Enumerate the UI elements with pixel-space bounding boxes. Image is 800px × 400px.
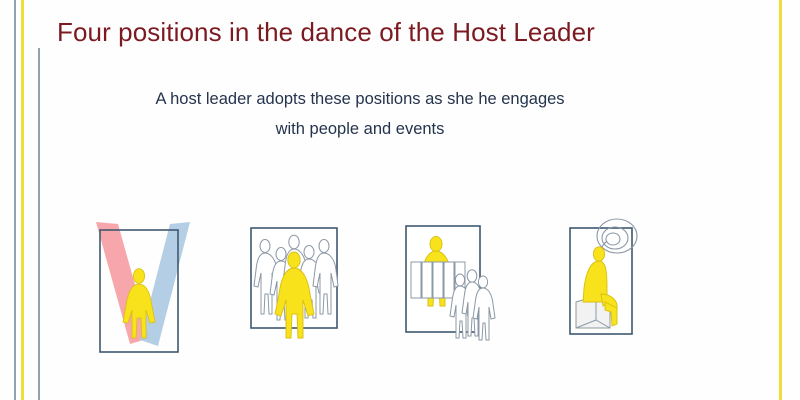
subtitle-line-1: A host leader adopts these positions as … [60, 84, 660, 114]
panel-behind-the-scenes[interactable] [398, 210, 502, 370]
beam-right [140, 222, 190, 346]
slide-canvas: Four positions in the dance of the Host … [0, 0, 800, 400]
panel-row [0, 210, 800, 370]
panel-in-the-crowd[interactable] [243, 210, 347, 370]
panel-spotlight[interactable] [78, 210, 208, 370]
subtitle-line-2: with people and events [60, 114, 660, 144]
panel-on-the-balcony[interactable] [563, 210, 667, 370]
page-title: Four positions in the dance of the Host … [57, 17, 595, 48]
page-subtitle: A host leader adopts these positions as … [60, 84, 660, 144]
